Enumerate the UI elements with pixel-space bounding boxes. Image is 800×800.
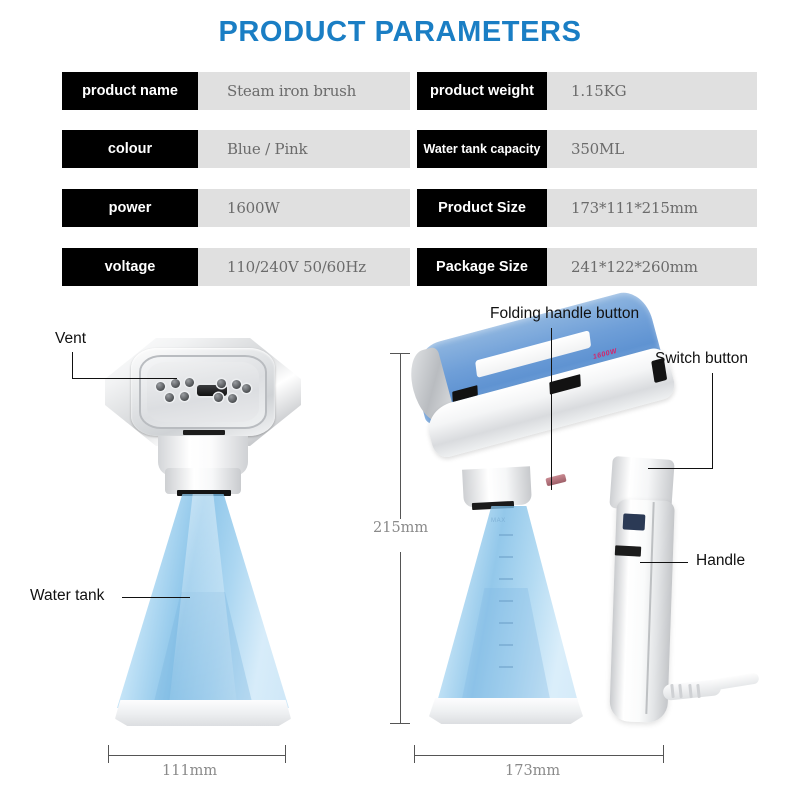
table-row: colour Blue / Pink — [62, 130, 410, 168]
dim-215-line-lower — [400, 552, 401, 723]
callout-vent-leader-v — [72, 352, 73, 378]
spec-key: Package Size — [417, 248, 547, 286]
tank-scale — [499, 526, 501, 686]
dim-111-line — [108, 755, 286, 756]
spec-value: 350ML — [547, 130, 757, 168]
spec-value: 1600W — [198, 189, 410, 227]
product-figures: Vent Water tank 111mm 1600W — [0, 290, 800, 800]
spec-key: power — [62, 189, 198, 227]
device-base — [115, 700, 291, 726]
callout-handle: Handle — [696, 552, 745, 570]
table-row: product name Steam iron brush — [62, 72, 410, 110]
table-row: product weight 1.15KG — [417, 72, 757, 110]
dim-173-tick-left — [414, 745, 415, 763]
vent-hole-icon — [232, 380, 241, 389]
callout-water-tank: Water tank — [30, 587, 104, 605]
dim-215-line-upper — [400, 353, 401, 519]
dim-173-tick-right — [663, 745, 664, 763]
callout-switch-leader-v — [712, 373, 713, 468]
spec-value: Steam iron brush — [198, 72, 410, 110]
handle-accent-tab — [623, 513, 646, 530]
dim-label-215mm: 215mm — [373, 520, 428, 536]
vent-hole-icon — [165, 393, 174, 402]
right-device-illustration: 1600W MAX — [415, 330, 715, 750]
spec-key: colour — [62, 130, 198, 168]
callout-folding-handle-button: Folding handle button — [490, 305, 639, 323]
table-row: Product Size 173*111*215mm — [417, 189, 757, 227]
left-device-illustration — [95, 330, 310, 750]
dim-label-111mm: 111mm — [162, 763, 217, 779]
callout-water-tank-leader — [122, 597, 190, 598]
dim-215-tick-bottom — [390, 723, 410, 724]
power-cord-extension — [710, 672, 759, 690]
handle-dark-tab — [615, 545, 641, 556]
vent-hole-icon — [242, 384, 251, 393]
table-row: power 1600W — [62, 189, 410, 227]
callout-handle-leader — [640, 562, 688, 563]
vent-hole-icon — [217, 379, 226, 388]
dim-111-tick-left — [108, 745, 109, 763]
vent-hole-icon — [185, 378, 194, 387]
spec-key: Water tank capacity — [417, 130, 547, 168]
spec-value: 1.15KG — [547, 72, 757, 110]
dim-111-tick-right — [285, 745, 286, 763]
dim-173-line — [414, 755, 664, 756]
page-title: PRODUCT PARAMETERS — [0, 16, 800, 49]
callout-vent: Vent — [55, 330, 86, 348]
tank-max-marking: MAX — [491, 518, 506, 524]
spec-value: 110/240V 50/60Hz — [198, 248, 410, 286]
table-row: Water tank capacity 350ML — [417, 130, 757, 168]
spec-value: 241*122*260mm — [547, 248, 757, 286]
steam-plate — [147, 362, 259, 422]
vent-hole-icon — [156, 382, 165, 391]
table-row: voltage 110/240V 50/60Hz — [62, 248, 410, 286]
device-base — [429, 698, 583, 724]
head-vent-bar — [183, 430, 225, 435]
vent-hole-icon — [228, 394, 237, 403]
spec-value: Blue / Pink — [198, 130, 410, 168]
dim-label-173mm: 173mm — [505, 763, 560, 779]
table-row: Package Size 241*122*260mm — [417, 248, 757, 286]
spec-key: product weight — [417, 72, 547, 110]
vent-hole-icon — [180, 392, 189, 401]
vent-hole-icon — [214, 393, 223, 402]
callout-folding-handle-leader — [551, 328, 552, 490]
spec-key: product name — [62, 72, 198, 110]
spec-key: Product Size — [417, 189, 547, 227]
callout-switch-leader-h — [648, 468, 713, 469]
callout-switch-button: Switch button — [655, 350, 748, 368]
spec-key: voltage — [62, 248, 198, 286]
callout-vent-leader-h — [72, 378, 177, 379]
product-parameters-page: PRODUCT PARAMETERS product name Steam ir… — [0, 0, 800, 800]
folding-handle-button[interactable] — [545, 474, 566, 487]
vent-hole-icon — [171, 379, 180, 388]
spec-table: product name Steam iron brush colour Blu… — [0, 72, 800, 287]
spec-value: 173*111*215mm — [547, 189, 757, 227]
